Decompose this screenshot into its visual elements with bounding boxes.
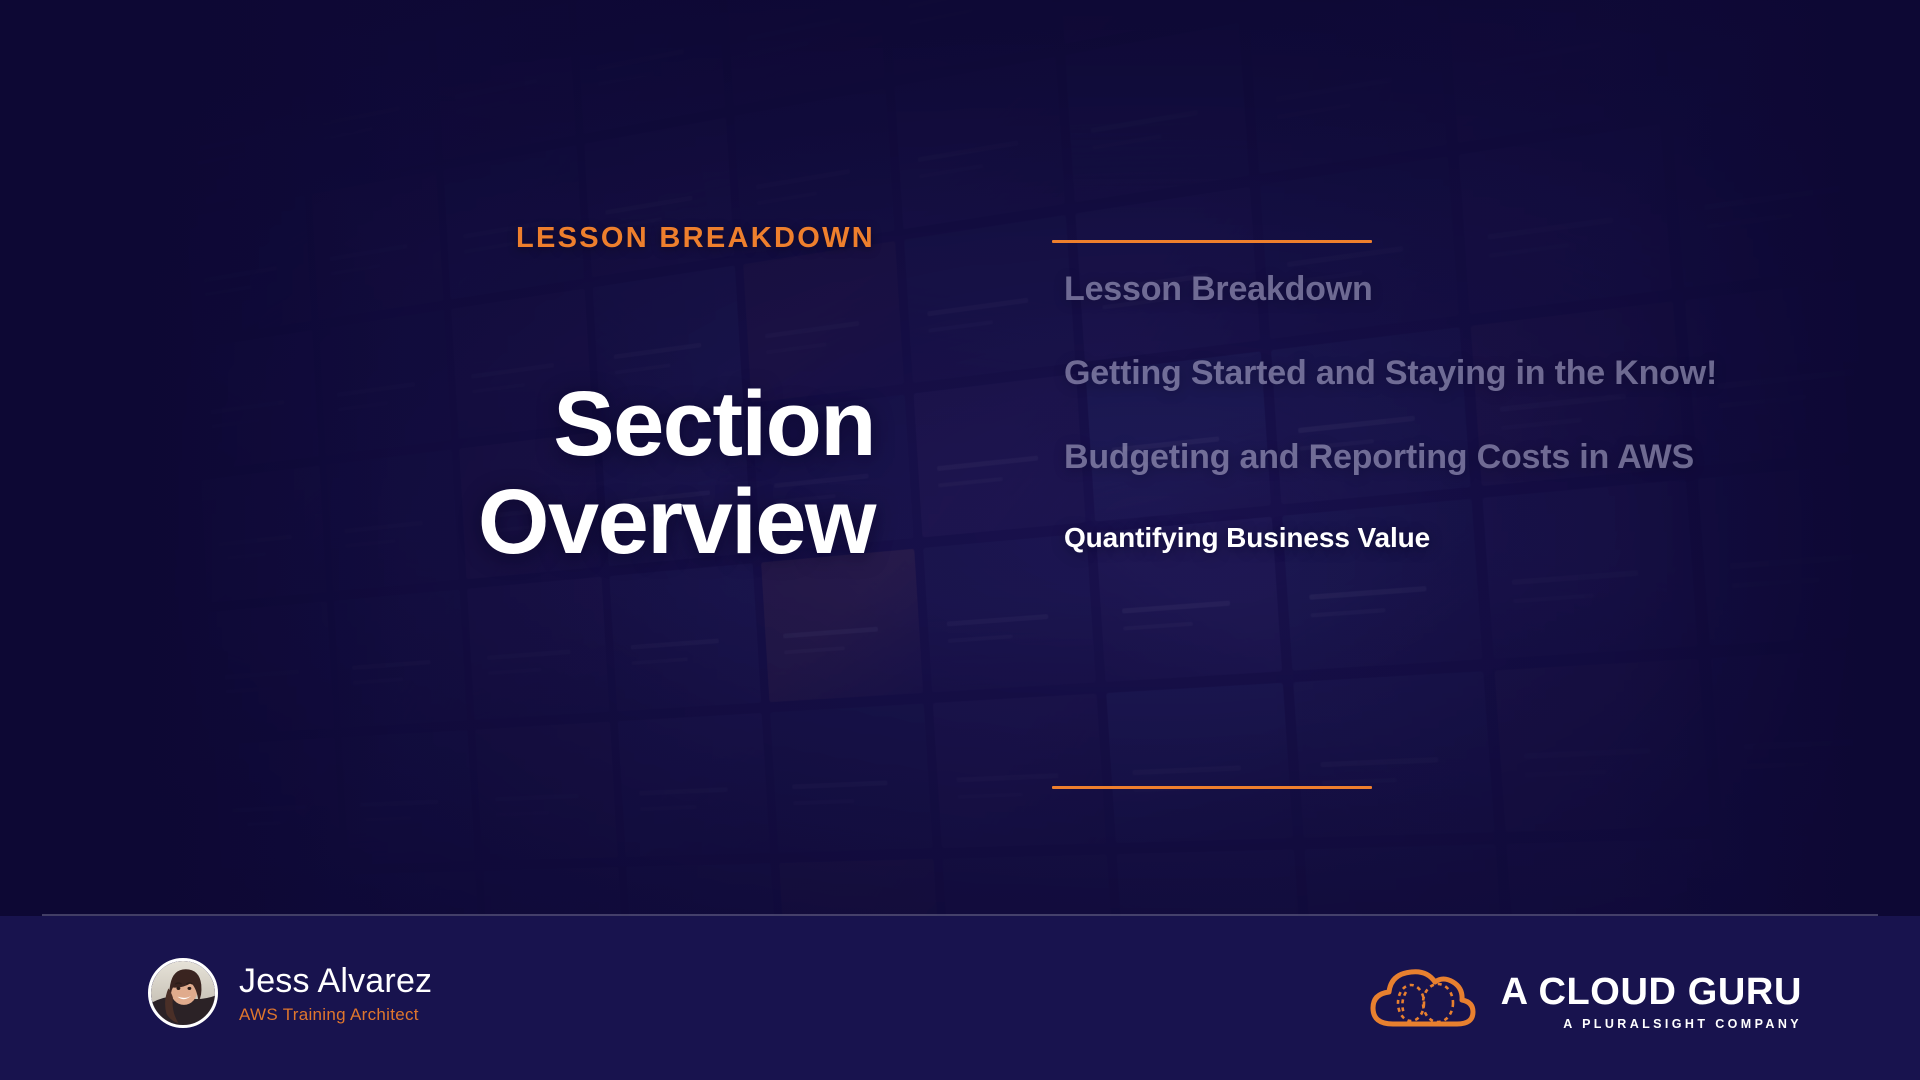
lesson-list-item[interactable]: Getting Started and Staying in the Know! xyxy=(1064,356,1854,390)
slide-root: LESSON BREAKDOWN Section Overview Lesson… xyxy=(0,0,1920,1080)
lesson-list-item[interactable]: Quantifying Business Value xyxy=(1064,524,1854,552)
lesson-list: Lesson BreakdownGetting Started and Stay… xyxy=(1064,272,1854,552)
brand-tagline: A PLURALSIGHT COMPANY xyxy=(1501,1018,1802,1031)
page-title: Section Overview xyxy=(175,375,875,572)
presenter-block: Jess Alvarez AWS Training Architect xyxy=(148,958,432,1028)
divider-rule-bottom xyxy=(1052,786,1372,789)
eyebrow-label: LESSON BREAKDOWN xyxy=(516,222,875,255)
lesson-list-item[interactable]: Lesson Breakdown xyxy=(1064,272,1854,306)
cloud-guru-logo-icon xyxy=(1367,962,1479,1041)
brand-name: A CLOUD GURU xyxy=(1501,973,1802,1011)
page-title-line-2: Overview xyxy=(175,473,875,571)
presenter-text: Jess Alvarez AWS Training Architect xyxy=(239,964,432,1023)
avatar xyxy=(148,958,218,1028)
page-title-line-1: Section xyxy=(175,375,875,473)
divider-rule-top xyxy=(1052,240,1372,243)
lesson-list-item[interactable]: Budgeting and Reporting Costs in AWS xyxy=(1064,440,1854,474)
presenter-role: AWS Training Architect xyxy=(239,1006,432,1023)
presenter-name: Jess Alvarez xyxy=(239,964,432,998)
brand-text: A CLOUD GURU A PLURALSIGHT COMPANY xyxy=(1501,973,1802,1031)
brand-logo: A CLOUD GURU A PLURALSIGHT COMPANY xyxy=(1367,962,1802,1041)
slide-content: LESSON BREAKDOWN Section Overview Lesson… xyxy=(0,0,1920,912)
footer-bar: Jess Alvarez AWS Training Architect A CL… xyxy=(0,916,1920,1080)
